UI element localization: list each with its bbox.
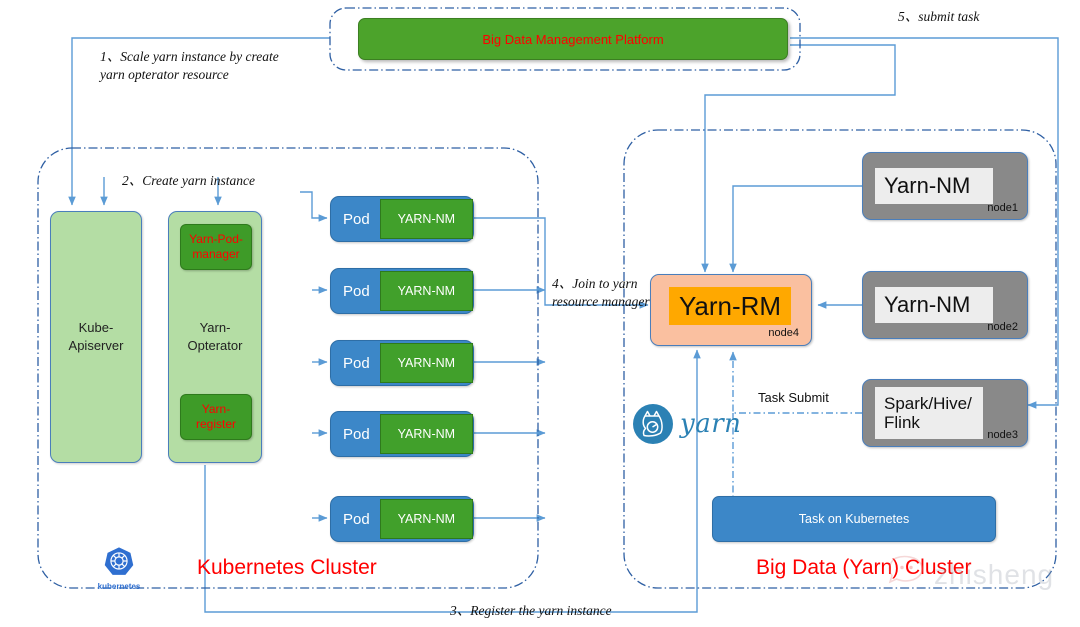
pod-label: Pod <box>343 511 370 528</box>
step-2-annotation: 2、Create yarn instance <box>122 172 342 190</box>
chat-bubble-icon <box>886 555 930 595</box>
yarn-pod-manager-box[interactable]: Yarn-Pod- manager <box>180 224 252 270</box>
step-1-annotation: 1、Scale yarn instance by create yarn opt… <box>100 48 340 84</box>
watermark: zhisheng <box>886 555 1054 595</box>
yarn-cat-icon <box>632 403 674 445</box>
pod-2[interactable]: Pod YARN-NM <box>330 268 474 314</box>
kube-apiserver-box[interactable]: Kube- Apiserver <box>50 211 142 463</box>
step-4-annotation: 4、Join to yarn resource manager <box>552 275 682 311</box>
yarn-nm-component: YARN-NM <box>380 499 473 539</box>
step-5-annotation: 5、submit task <box>898 8 1068 26</box>
node-id-label: node2 <box>987 321 1018 333</box>
kubernetes-helm-icon <box>104 546 134 576</box>
yarn-nm-component: YARN-NM <box>380 414 473 454</box>
pod-4[interactable]: Pod YARN-NM <box>330 411 474 457</box>
task-submit-label: Task Submit <box>758 390 829 405</box>
kubernetes-logo-caption: kubernetes <box>93 582 145 591</box>
pod-label: Pod <box>343 211 370 228</box>
pod-1[interactable]: Pod YARN-NM <box>330 196 474 242</box>
yarn-operator-label: Yarn- Opterator <box>188 319 243 354</box>
yarn-nm-component: YARN-NM <box>380 271 473 311</box>
yarn-nm-node2-label: Yarn-NM <box>875 287 993 323</box>
yarn-nm-node1-box[interactable]: Yarn-NM node1 <box>862 152 1028 220</box>
pod-label: Pod <box>343 355 370 372</box>
yarn-wordmark: yarn <box>680 409 741 439</box>
big-data-management-platform[interactable]: Big Data Management Platform <box>358 18 788 60</box>
yarn-nm-component: YARN-NM <box>380 343 473 383</box>
pod-5[interactable]: Pod YARN-NM <box>330 496 474 542</box>
task-on-kubernetes-box[interactable]: Task on Kubernetes <box>712 496 996 542</box>
watermark-text: zhisheng <box>934 559 1054 591</box>
yarn-register-box[interactable]: Yarn- register <box>180 394 252 440</box>
spark-hive-flink-label: Spark/Hive/ Flink <box>875 387 983 439</box>
node-id-label: node1 <box>987 202 1018 214</box>
kubernetes-logo: kubernetes <box>93 546 145 591</box>
pod-label: Pod <box>343 283 370 300</box>
node-id-label: node3 <box>987 429 1018 441</box>
yarn-logo: yarn <box>632 403 741 445</box>
node-id-label: node4 <box>768 327 799 339</box>
yarn-nm-component: YARN-NM <box>380 199 473 239</box>
diagram-canvas: Big Data Management Platform Kube- Apise… <box>0 0 1080 627</box>
yarn-rm-label: Yarn-RM <box>669 287 791 325</box>
kubernetes-cluster-label: Kubernetes Cluster <box>197 556 377 580</box>
pod-3[interactable]: Pod YARN-NM <box>330 340 474 386</box>
yarn-nm-node2-box[interactable]: Yarn-NM node2 <box>862 271 1028 339</box>
step-3-annotation: 3、Register the yarn instance <box>450 602 730 620</box>
yarn-nm-node1-label: Yarn-NM <box>875 168 993 204</box>
spark-hive-flink-node3-box[interactable]: Spark/Hive/ Flink node3 <box>862 379 1028 447</box>
pod-label: Pod <box>343 426 370 443</box>
